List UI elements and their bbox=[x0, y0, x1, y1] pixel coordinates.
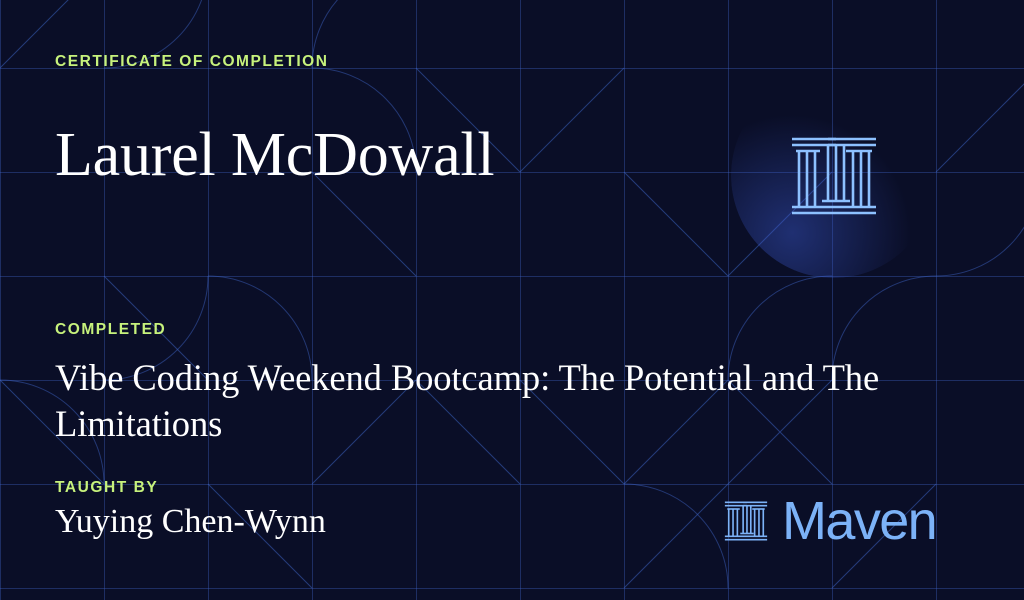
certificate-card: CERTIFICATE OF COMPLETION Laurel McDowal… bbox=[0, 0, 1024, 600]
maven-pillars-icon bbox=[784, 126, 884, 226]
taught-by-label: TAUGHT BY bbox=[55, 479, 158, 497]
instructor-name: Yuying Chen-Wynn bbox=[55, 502, 326, 543]
maven-wordmark-text: Maven bbox=[782, 494, 936, 548]
course-title: Vibe Coding Weekend Bootcamp: The Potent… bbox=[55, 355, 935, 447]
certificate-seal-badge bbox=[731, 73, 936, 278]
recipient-name: Laurel McDowall bbox=[55, 122, 494, 189]
maven-pillars-icon bbox=[722, 495, 770, 547]
certificate-kicker: CERTIFICATE OF COMPLETION bbox=[55, 53, 329, 71]
completed-label: COMPLETED bbox=[55, 321, 166, 339]
maven-logo: Maven bbox=[722, 494, 936, 548]
